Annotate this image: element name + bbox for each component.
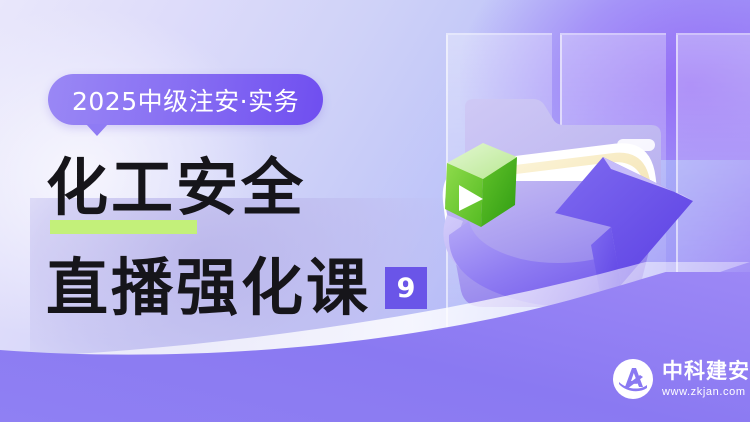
folder-front-flap xyxy=(445,181,662,307)
title-highlight-bar xyxy=(50,220,197,234)
banner-text-content: 2025中级注安·实务 化工安全 直播强化课 9 xyxy=(0,0,460,422)
background-panel-1 xyxy=(446,33,552,335)
play-triangle-icon xyxy=(459,185,483,211)
circular-arrow-icon xyxy=(443,157,693,309)
course-category-badge: 2025中级注安·实务 xyxy=(48,74,323,125)
background-panel-3 xyxy=(676,33,750,335)
background-panel-2 xyxy=(560,33,666,335)
page-title-line-2: 直播强化课 xyxy=(46,252,371,324)
course-banner: 2025中级注安·实务 化工安全 直播强化课 9 中科建安 www.zkjan.… xyxy=(0,0,750,422)
brand-logo: 中科建安 www.zkjan.com xyxy=(612,358,750,400)
page-title-line-1: 化工安全 xyxy=(46,152,306,224)
episode-number-badge: 9 xyxy=(385,267,427,309)
folder-icon xyxy=(465,99,661,225)
course-illustration xyxy=(425,95,750,340)
logo-brand-name: 中科建安 xyxy=(662,360,750,383)
category-pill: 2025中级注安·实务 xyxy=(48,74,323,125)
zkjan-logo-icon xyxy=(612,358,654,400)
folder-papers xyxy=(439,139,662,255)
badge-tail-icon xyxy=(86,124,108,136)
logo-text-block: 中科建安 www.zkjan.com xyxy=(662,360,750,399)
category-label: 2025中级注安·实务 xyxy=(72,82,299,118)
logo-website-url: www.zkjan.com xyxy=(662,385,750,399)
page-title-line-2-wrap: 直播强化课 9 xyxy=(46,252,427,324)
background-glow-top-right xyxy=(460,0,750,160)
background-panels xyxy=(440,33,750,333)
